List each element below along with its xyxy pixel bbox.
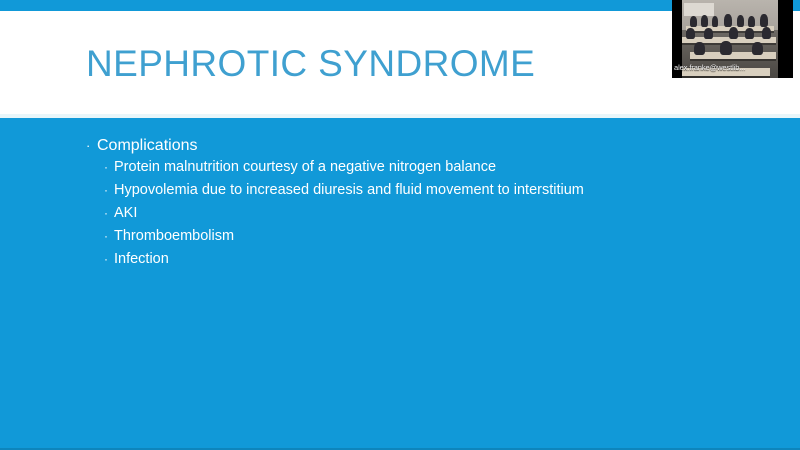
list-item: · Hypovolemia due to increased diuresis … xyxy=(104,181,584,200)
presentation-slide: NEPHROTIC SYNDROME · Complications · Pro… xyxy=(0,0,800,450)
student-figure xyxy=(704,28,713,39)
webcam-video-overlay[interactable]: alex.franke@westlib... xyxy=(672,0,793,78)
bullet-marker-icon: · xyxy=(104,204,114,223)
student-figure xyxy=(752,42,763,55)
bullet-marker-icon: · xyxy=(104,250,114,269)
student-figure xyxy=(720,41,732,55)
bullet-marker-icon: · xyxy=(104,181,114,200)
list-item-label: Hypovolemia due to increased diuresis an… xyxy=(114,181,584,200)
student-figure xyxy=(690,16,697,27)
list-item-label: Infection xyxy=(114,250,169,269)
list-item-label: Protein malnutrition courtesy of a negat… xyxy=(114,158,496,177)
bullet-marker-icon: · xyxy=(86,136,97,156)
student-figure xyxy=(694,42,705,55)
student-figure xyxy=(712,16,718,27)
bullet-marker-icon: · xyxy=(104,227,114,246)
list-item: · Infection xyxy=(104,250,169,269)
list-item-label: AKI xyxy=(114,204,137,223)
student-figure xyxy=(737,15,744,27)
list-item: · Complications xyxy=(86,136,197,156)
student-figure xyxy=(762,27,771,39)
student-figure xyxy=(760,14,768,27)
student-figure xyxy=(686,28,695,39)
list-item: · Protein malnutrition courtesy of a neg… xyxy=(104,158,496,177)
participant-name-label: alex.franke@westlib... xyxy=(674,63,745,72)
whiteboard xyxy=(684,3,714,16)
list-item-label: Thromboembolism xyxy=(114,227,234,246)
list-item: · Thromboembolism xyxy=(104,227,234,246)
list-item: · AKI xyxy=(104,204,137,223)
bullet-marker-icon: · xyxy=(104,158,114,177)
student-figure xyxy=(724,14,732,27)
student-figure xyxy=(745,28,754,39)
student-figure xyxy=(729,27,738,39)
page-title: NEPHROTIC SYNDROME xyxy=(86,42,535,86)
list-item-label: Complications xyxy=(97,136,197,156)
student-figure xyxy=(748,16,755,27)
student-figure xyxy=(701,15,708,27)
